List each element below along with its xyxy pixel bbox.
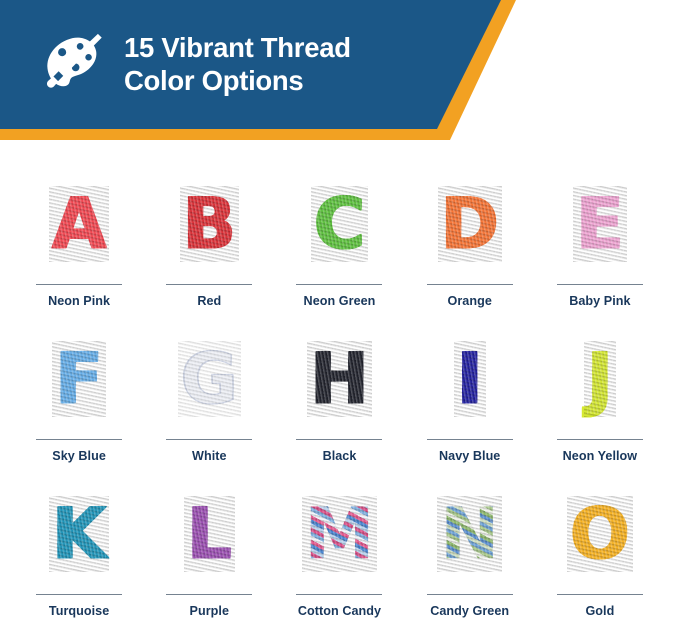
embroidered-letter-wrap: O (535, 478, 665, 594)
swatch-divider (36, 594, 122, 595)
thread-swatch-sky-blue[interactable]: FSky Blue (14, 323, 144, 478)
embroidered-letter-wrap: H (274, 323, 404, 439)
thread-swatch-neon-pink[interactable]: ANeon Pink (14, 168, 144, 323)
letter-glyph: H (310, 344, 369, 414)
letter-glyph: L (187, 499, 232, 569)
letter-glyph: J (587, 344, 613, 414)
swatch-label: Purple (190, 604, 230, 619)
swatch-label: Cotton Candy (298, 604, 381, 619)
letter-glyph: D (441, 189, 499, 259)
swatch-divider (427, 439, 513, 440)
swatch-label: Red (197, 294, 221, 323)
embroidered-letter-wrap: J (535, 323, 665, 439)
swatch-divider (557, 594, 643, 595)
embroidered-letter: E (576, 189, 624, 259)
embroidered-letter: C (314, 189, 365, 259)
embroidered-letter-wrap: I (405, 323, 535, 439)
embroidered-letter-wrap: C (274, 168, 404, 284)
swatch-label: Neon Green (304, 294, 376, 323)
embroidered-letter-wrap: L (144, 478, 274, 594)
thread-swatch-purple[interactable]: LPurple (144, 478, 274, 619)
thread-swatch-neon-green[interactable]: CNeon Green (274, 168, 404, 323)
embroidered-letter: F (55, 344, 103, 414)
embroidered-letter: M (305, 499, 375, 569)
header-banner: 15 Vibrant Thread Color Options (0, 0, 560, 142)
swatch-divider (427, 594, 513, 595)
swatch-label: Sky Blue (52, 449, 106, 478)
letter-glyph: G (181, 344, 238, 414)
swatch-label: Navy Blue (439, 449, 500, 478)
embroidered-letter-wrap: G (144, 323, 274, 439)
swatch-label: Black (323, 449, 357, 478)
embroidered-letter-wrap: N (405, 478, 535, 594)
thread-swatch-white[interactable]: GWhite (144, 323, 274, 478)
embroidered-letter: O (570, 499, 630, 569)
letter-glyph: O (570, 499, 630, 569)
swatch-divider (36, 439, 122, 440)
embroidered-letter-wrap: K (14, 478, 144, 594)
embroidered-letter-wrap: A (14, 168, 144, 284)
letter-glyph: B (183, 189, 236, 259)
thread-color-grid: ANeon PinkBRedCNeon GreenDOrangeEBaby Pi… (14, 168, 665, 619)
swatch-label: Turquoise (49, 604, 109, 619)
swatch-divider (427, 284, 513, 285)
embroidered-letter-wrap: M (274, 478, 404, 594)
swatch-label: Orange (448, 294, 492, 323)
letter-glyph: K (52, 499, 106, 569)
embroidered-letter-wrap: F (14, 323, 144, 439)
thread-swatch-cotton-candy[interactable]: MCotton Candy (274, 478, 404, 619)
thread-swatch-navy-blue[interactable]: INavy Blue (405, 323, 535, 478)
letter-glyph: M (305, 499, 375, 569)
swatch-divider (36, 284, 122, 285)
embroidered-letter-wrap: B (144, 168, 274, 284)
thread-swatch-turquoise[interactable]: KTurquoise (14, 478, 144, 619)
paint-palette-icon (34, 28, 106, 100)
embroidered-letter: A (52, 189, 106, 259)
swatch-label: Baby Pink (569, 294, 630, 323)
swatch-divider (166, 594, 252, 595)
swatch-divider (296, 594, 382, 595)
letter-glyph: C (314, 189, 365, 259)
embroidered-letter: B (183, 189, 236, 259)
embroidered-letter: L (187, 499, 232, 569)
thread-color-options-page: 15 Vibrant Thread Color Options ANeon Pi… (0, 0, 679, 619)
swatch-label: Candy Green (430, 604, 509, 619)
letter-glyph: I (457, 344, 483, 414)
swatch-divider (166, 284, 252, 285)
letter-glyph: N (440, 499, 499, 569)
swatch-divider (296, 439, 382, 440)
embroidered-letter-wrap: D (405, 168, 535, 284)
banner-content: 15 Vibrant Thread Color Options (0, 0, 520, 129)
thread-swatch-baby-pink[interactable]: EBaby Pink (535, 168, 665, 323)
swatch-label: Neon Pink (48, 294, 110, 323)
thread-swatch-gold[interactable]: OGold (535, 478, 665, 619)
swatch-divider (557, 439, 643, 440)
page-title: 15 Vibrant Thread Color Options (124, 32, 351, 96)
swatch-label: White (192, 449, 227, 478)
thread-swatch-black[interactable]: HBlack (274, 323, 404, 478)
swatch-label: Gold (585, 604, 614, 619)
swatch-divider (557, 284, 643, 285)
letter-glyph: E (576, 189, 624, 259)
embroidered-letter: H (310, 344, 369, 414)
thread-swatch-red[interactable]: BRed (144, 168, 274, 323)
embroidered-letter: J (587, 344, 613, 414)
swatch-divider (166, 439, 252, 440)
embroidered-letter: I (457, 344, 483, 414)
swatch-label: Neon Yellow (563, 449, 638, 478)
embroidered-letter: N (440, 499, 499, 569)
thread-swatch-neon-yellow[interactable]: JNeon Yellow (535, 323, 665, 478)
thread-swatch-orange[interactable]: DOrange (405, 168, 535, 323)
embroidered-letter: D (441, 189, 499, 259)
embroidered-letter-wrap: E (535, 168, 665, 284)
swatch-divider (296, 284, 382, 285)
thread-swatch-candy-green[interactable]: NCandy Green (405, 478, 535, 619)
letter-glyph: F (55, 344, 103, 414)
letter-glyph: A (52, 189, 106, 259)
embroidered-letter: K (52, 499, 106, 569)
embroidered-letter: G (181, 344, 238, 414)
